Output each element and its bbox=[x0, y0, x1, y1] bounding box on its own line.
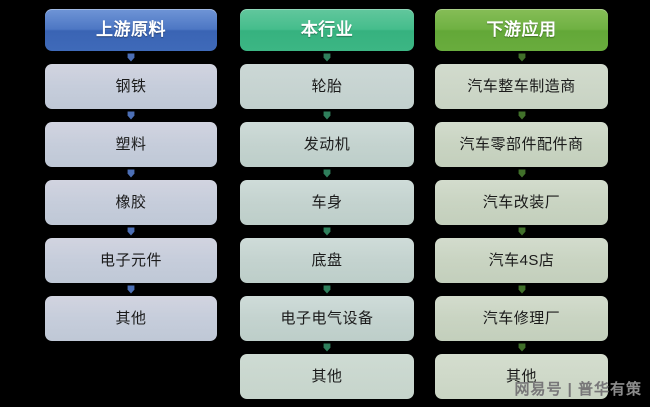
node-downstream-2[interactable]: 汽车改装厂 bbox=[435, 180, 608, 225]
column-industry: 本行业轮胎发动机车身底盘电子电气设备其他 bbox=[240, 0, 414, 407]
column-downstream: 下游应用汽车整车制造商汽车零部件配件商汽车改装厂汽车4S店汽车修理厂其他 bbox=[435, 0, 608, 407]
arrow-down-icon bbox=[517, 53, 526, 62]
column-upstream: 上游原料钢铁塑料橡胶电子元件其他 bbox=[45, 0, 217, 407]
arrow-down-icon bbox=[323, 227, 332, 236]
node-industry-3[interactable]: 底盘 bbox=[240, 238, 414, 283]
node-industry-5[interactable]: 其他 bbox=[240, 354, 414, 399]
node-upstream-3[interactable]: 电子元件 bbox=[45, 238, 217, 283]
arrow-down-icon bbox=[517, 285, 526, 294]
node-upstream-1[interactable]: 塑料 bbox=[45, 122, 217, 167]
arrow-down-icon bbox=[517, 169, 526, 178]
column-header-downstream[interactable]: 下游应用 bbox=[435, 9, 608, 51]
arrow-down-icon bbox=[323, 53, 332, 62]
arrow-down-icon bbox=[323, 343, 332, 352]
arrow-down-icon bbox=[127, 169, 136, 178]
node-downstream-3[interactable]: 汽车4S店 bbox=[435, 238, 608, 283]
node-downstream-4[interactable]: 汽车修理厂 bbox=[435, 296, 608, 341]
node-upstream-4[interactable]: 其他 bbox=[45, 296, 217, 341]
arrow-down-icon bbox=[127, 285, 136, 294]
node-downstream-0[interactable]: 汽车整车制造商 bbox=[435, 64, 608, 109]
node-industry-1[interactable]: 发动机 bbox=[240, 122, 414, 167]
node-downstream-1[interactable]: 汽车零部件配件商 bbox=[435, 122, 608, 167]
arrow-down-icon bbox=[517, 111, 526, 120]
column-header-upstream[interactable]: 上游原料 bbox=[45, 9, 217, 51]
arrow-down-icon bbox=[517, 227, 526, 236]
arrow-down-icon bbox=[127, 227, 136, 236]
node-industry-4[interactable]: 电子电气设备 bbox=[240, 296, 414, 341]
arrow-down-icon bbox=[127, 111, 136, 120]
node-downstream-5[interactable]: 其他 bbox=[435, 354, 608, 399]
arrow-down-icon bbox=[323, 111, 332, 120]
node-upstream-2[interactable]: 橡胶 bbox=[45, 180, 217, 225]
arrow-down-icon bbox=[517, 343, 526, 352]
arrow-down-icon bbox=[323, 169, 332, 178]
column-header-industry[interactable]: 本行业 bbox=[240, 9, 414, 51]
node-industry-0[interactable]: 轮胎 bbox=[240, 64, 414, 109]
node-upstream-0[interactable]: 钢铁 bbox=[45, 64, 217, 109]
industry-chain-diagram: 上游原料钢铁塑料橡胶电子元件其他本行业轮胎发动机车身底盘电子电气设备其他下游应用… bbox=[0, 0, 650, 407]
node-industry-2[interactable]: 车身 bbox=[240, 180, 414, 225]
arrow-down-icon bbox=[127, 53, 136, 62]
arrow-down-icon bbox=[323, 285, 332, 294]
